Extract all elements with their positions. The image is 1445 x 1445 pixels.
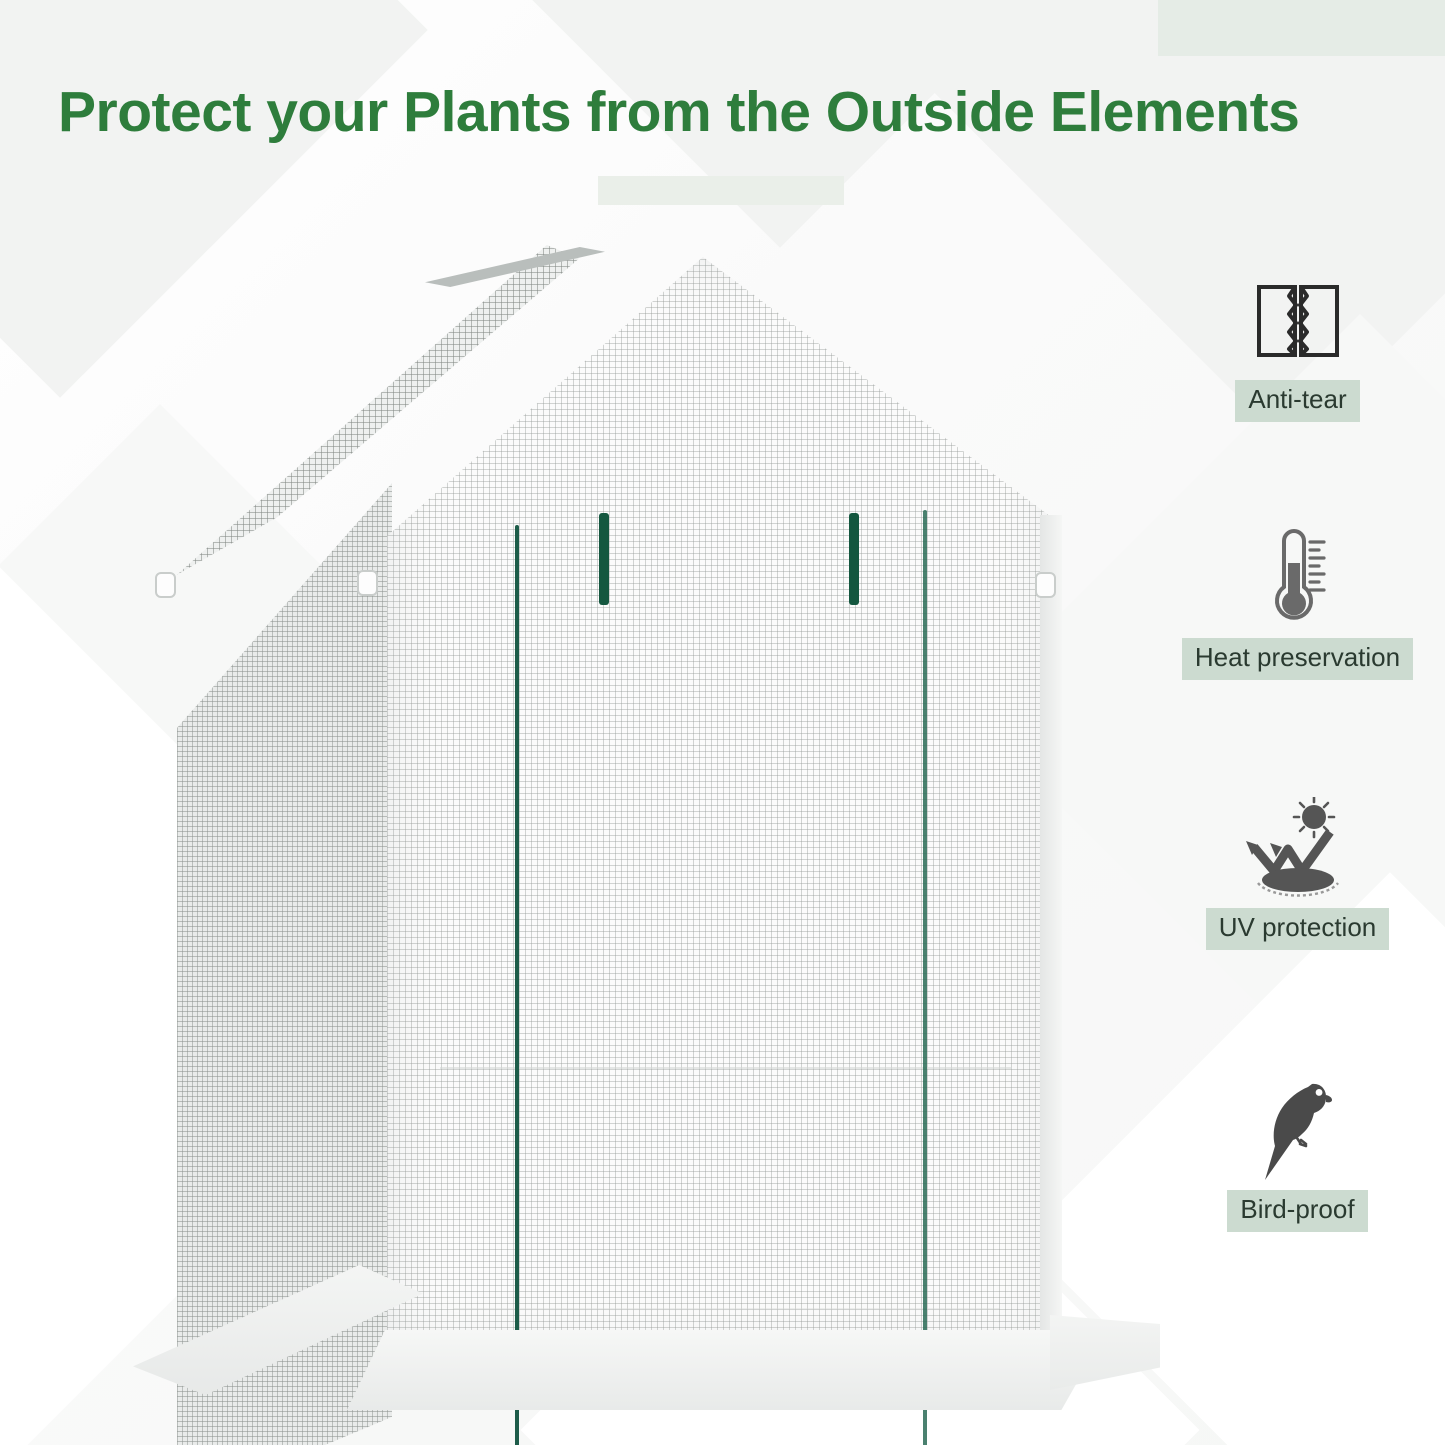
roll-up-loop-mid[interactable] (357, 570, 378, 596)
zip-pull-right[interactable] (849, 513, 859, 605)
thermometer-icon (1150, 520, 1445, 638)
interior-shelf-line-2 (454, 1308, 999, 1310)
base-skirt-front (347, 1330, 1107, 1410)
anti-tear-icon (1150, 262, 1445, 380)
page-title: Protect your Plants from the Outside Ele… (58, 82, 1398, 142)
zip-pull-left[interactable] (599, 513, 609, 605)
zip-door-right[interactable] (923, 510, 927, 1445)
uv-protection-icon (1150, 790, 1445, 908)
subtitle-bar (598, 176, 844, 205)
feature-label-heat-preservation: Heat preservation (1182, 638, 1413, 680)
roll-up-loop-left[interactable] (155, 572, 176, 598)
bird-icon (1150, 1072, 1445, 1190)
feature-bird-proof: Bird-proof (1150, 1072, 1445, 1232)
front-panel (387, 257, 1052, 1352)
feature-label-bird-proof: Bird-proof (1227, 1190, 1367, 1232)
greenhouse-illustration (95, 225, 1105, 1405)
roll-up-loop-right[interactable] (1035, 572, 1056, 598)
marketing-banner: Protect your Plants from the Outside Ele… (0, 0, 1445, 1445)
feature-label-uv-protection: UV protection (1206, 908, 1390, 950)
zip-door-left[interactable] (515, 525, 519, 1445)
product-image (95, 225, 1105, 1405)
feature-label-anti-tear: Anti-tear (1235, 380, 1359, 422)
feature-uv-protection: UV protection (1150, 790, 1445, 950)
corner-accent-block (1158, 0, 1445, 56)
feature-anti-tear: Anti-tear (1150, 262, 1445, 422)
feature-heat-preservation: Heat preservation (1150, 520, 1445, 680)
base-skirt-right (1050, 1315, 1160, 1390)
right-edge-wrap (1040, 515, 1062, 1360)
